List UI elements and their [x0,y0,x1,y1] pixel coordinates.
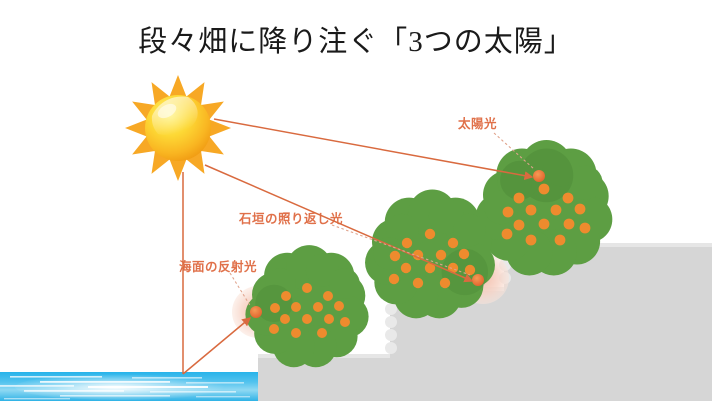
sun-rays-group [183,119,532,374]
leader-seareflect [230,273,251,307]
leader-lines-group [230,133,534,307]
ray-sunlight-to-middle-tree [205,165,472,281]
ray-sunlight-to-right-tree [214,119,532,177]
illustration-canvas: 段々畑に降り注ぐ「3つの太陽」 [0,0,712,401]
ray-sea-to-left-tree [183,318,250,374]
ray-and-leader-lines [0,0,712,401]
leader-sunlight [494,133,534,169]
